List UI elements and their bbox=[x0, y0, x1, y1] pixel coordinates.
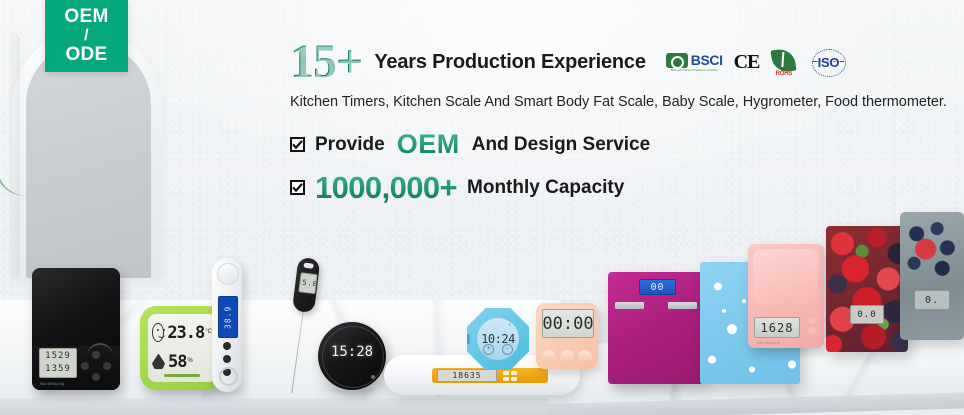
pink-scale-buttons[interactable] bbox=[808, 317, 817, 337]
round-black-timer: 15:28 bbox=[318, 322, 386, 390]
pink-timer-button-min[interactable] bbox=[542, 350, 556, 362]
iso-globe-icon: ISO bbox=[808, 49, 848, 75]
blue-timer-display: 10:24 bbox=[477, 332, 519, 346]
wood-scale-display: 0. bbox=[914, 290, 950, 310]
pink-scale-caption: Max 5000g d:1g bbox=[757, 341, 780, 345]
pink-square-timer: 00:00 bbox=[536, 303, 598, 369]
headline-copy-block: 15+ Years Production Experience BSCI Bus… bbox=[290, 38, 955, 203]
blue-timer-button-plus[interactable]: + bbox=[483, 344, 494, 355]
hygrometer-comfort-bar bbox=[164, 374, 200, 377]
round-timer-display: 15:28 bbox=[318, 344, 386, 360]
probe-thermometer-cap bbox=[217, 263, 239, 285]
rohs-leaf-shape bbox=[771, 47, 797, 73]
blue-timer-button-minus[interactable]: - bbox=[502, 344, 513, 355]
pink-timer-buttons[interactable] bbox=[542, 350, 592, 362]
pink-timer-display: 00:00 bbox=[542, 309, 594, 338]
iso-label: ISO bbox=[818, 55, 840, 70]
probe-button-mode[interactable] bbox=[223, 355, 231, 363]
rohs-leaf-icon: ROHS bbox=[770, 49, 797, 76]
hygrometer-temperature-unit: °C bbox=[205, 329, 212, 336]
certification-badges: BSCI Business Social Compliance Initiati… bbox=[666, 49, 849, 76]
feature-row-capacity: 1000,000+ Monthly Capacity bbox=[290, 172, 955, 203]
feature-oem-suffix: And Design Service bbox=[472, 134, 650, 156]
pink-timer-button-start[interactable] bbox=[578, 350, 592, 362]
probe-button-power[interactable] bbox=[223, 342, 231, 350]
black-scale-key-up[interactable] bbox=[92, 351, 100, 359]
checkbox-checked-icon bbox=[290, 180, 305, 195]
oem-badge-line1: OEM bbox=[64, 7, 108, 28]
pen-thermometer-hanging-hole bbox=[303, 263, 314, 269]
bsci-sublabel: Business Social Compliance Initiative bbox=[671, 69, 718, 72]
iso-certification-badge: ISO bbox=[808, 49, 848, 75]
round-timer-indicator-dot bbox=[371, 375, 375, 379]
berry-scale-display: 0.0 bbox=[850, 305, 884, 324]
ce-certification-badge: CE bbox=[734, 51, 760, 74]
pen-thermometer-display: 25.8 bbox=[298, 272, 317, 294]
hygrometer-humidity-unit: % bbox=[187, 358, 192, 365]
hygrometer-temperature-value: 23.8 bbox=[167, 323, 204, 343]
pink-scale-display: 1628 bbox=[754, 317, 800, 338]
wood-berry-kitchen-scale: 0. bbox=[900, 212, 964, 340]
bsci-label: BSCI bbox=[691, 52, 723, 68]
black-scale-key-left[interactable] bbox=[81, 362, 89, 370]
baby-scale-button-3[interactable] bbox=[503, 377, 509, 381]
feature-oem-prefix: Provide bbox=[315, 134, 385, 156]
baby-scale-control-strip: 18635 bbox=[432, 368, 548, 383]
baby-scale-display: 18635 bbox=[437, 369, 497, 382]
blue-timer-screen: * 10:24 + - bbox=[477, 318, 519, 360]
water-drop-icon bbox=[152, 354, 165, 370]
checkbox-checked-icon bbox=[290, 137, 305, 152]
baby-scale-button-2[interactable] bbox=[511, 371, 517, 375]
probe-thermometer-display: 38.9 bbox=[218, 296, 238, 338]
feature-row-oem: Provide OEM And Design Service bbox=[290, 131, 955, 158]
headline-row: 15+ Years Production Experience BSCI Bus… bbox=[290, 38, 955, 86]
magenta-scale-display: 00 bbox=[639, 279, 676, 295]
black-scale-display-line1: 1529 bbox=[45, 350, 71, 363]
smiley-face-icon bbox=[152, 323, 164, 342]
oem-badge-separator: / bbox=[84, 27, 89, 44]
black-scale-key-right[interactable] bbox=[103, 362, 111, 370]
years-number: 15+ bbox=[290, 38, 364, 86]
pink-scale-button-tare[interactable] bbox=[808, 327, 817, 334]
black-scale-display-line2: 1359 bbox=[45, 363, 71, 376]
black-scale-display: 1529 1359 bbox=[39, 348, 77, 378]
baby-scale-button-4[interactable] bbox=[511, 377, 517, 381]
rohs-label: ROHS bbox=[770, 71, 797, 77]
feature-capacity-highlight: 1000,000+ bbox=[315, 172, 457, 203]
ce-label: CE bbox=[734, 51, 760, 74]
pink-scale-button-unit[interactable] bbox=[808, 317, 817, 324]
black-scale-key-down[interactable] bbox=[92, 373, 100, 381]
product-category-subtitle: Kitchen Timers, Kitchen Scale And Smart … bbox=[290, 94, 955, 110]
feature-capacity-suffix: Monthly Capacity bbox=[467, 177, 624, 199]
hygrometer-screen: 23.8 °C 58 % bbox=[148, 314, 216, 382]
black-scale-caption: Max 5000g d:1g bbox=[40, 382, 64, 386]
pink-scale-weighing-plate bbox=[753, 249, 819, 305]
baby-scale-buttons[interactable] bbox=[503, 371, 517, 381]
white-probe-thermometer: 38.9 bbox=[212, 258, 242, 392]
magenta-body-fat-scale: 00 bbox=[608, 272, 704, 384]
hygrometer-humidity-row: 58 % bbox=[152, 348, 212, 375]
left-counter-edge bbox=[0, 398, 560, 415]
black-kitchen-scale: 1529 1359 Max 5000g d:1g bbox=[32, 268, 120, 390]
hygrometer-humidity-value: 58 bbox=[168, 352, 186, 372]
arch-inner-panel bbox=[26, 42, 151, 278]
oem-ode-badge: OEM / ODE bbox=[45, 0, 128, 72]
headline-text: Years Production Experience bbox=[374, 51, 645, 74]
magenta-scale-electrode-right bbox=[668, 302, 697, 309]
black-scale-keypad[interactable] bbox=[81, 351, 111, 381]
pink-timer-button-sec[interactable] bbox=[560, 350, 574, 362]
hygrometer-temperature-row: 23.8 °C bbox=[152, 319, 212, 346]
oem-badge-line2: ODE bbox=[65, 45, 107, 66]
probe-thermometer-hook bbox=[219, 367, 238, 386]
berry-print-kitchen-scale: 0.0 bbox=[826, 226, 908, 352]
bsci-mark-icon bbox=[666, 53, 688, 68]
product-capability-banner: OEM / ODE 15+ Years Production Experienc… bbox=[0, 0, 964, 415]
feature-oem-highlight: OEM bbox=[395, 131, 462, 158]
rohs-certification-badge: ROHS bbox=[770, 49, 797, 76]
bsci-top-row: BSCI bbox=[666, 52, 723, 68]
alarm-star-icon: * bbox=[509, 324, 511, 330]
pink-kitchen-scale: 1628 Max 5000g d:1g bbox=[748, 244, 824, 348]
magenta-scale-electrode-left bbox=[615, 302, 644, 309]
bsci-certification-badge: BSCI Business Social Compliance Initiati… bbox=[666, 52, 723, 72]
baby-scale-button-1[interactable] bbox=[503, 371, 509, 375]
